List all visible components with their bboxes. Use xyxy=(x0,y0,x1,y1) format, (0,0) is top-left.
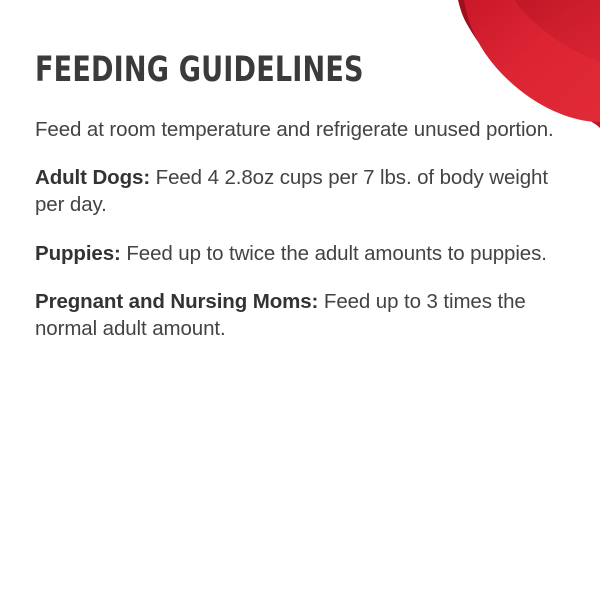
paragraph-intro: Feed at room temperature and refrigerate… xyxy=(35,116,578,143)
paragraph-puppies-label: Puppies: xyxy=(35,242,121,265)
content-area: FEEDING GUIDELINES Feed at room temperat… xyxy=(0,0,600,342)
paragraph-puppies: Puppies: Feed up to twice the adult amou… xyxy=(35,240,578,267)
feeding-guidelines-page: FEEDING GUIDELINES Feed at room temperat… xyxy=(0,0,600,600)
paragraph-pregnant-nursing-moms-label: Pregnant and Nursing Moms: xyxy=(35,290,318,313)
page-title: FEEDING GUIDELINES xyxy=(35,52,502,90)
paragraph-intro-text: Feed at room temperature and refrigerate… xyxy=(35,118,554,141)
paragraph-adult-dogs-label: Adult Dogs: xyxy=(35,166,150,189)
paragraph-adult-dogs: Adult Dogs: Feed 4 2.8oz cups per 7 lbs.… xyxy=(35,164,578,219)
paragraph-puppies-text: Feed up to twice the adult amounts to pu… xyxy=(126,242,546,265)
paragraph-pregnant-nursing-moms: Pregnant and Nursing Moms: Feed up to 3 … xyxy=(35,288,578,343)
